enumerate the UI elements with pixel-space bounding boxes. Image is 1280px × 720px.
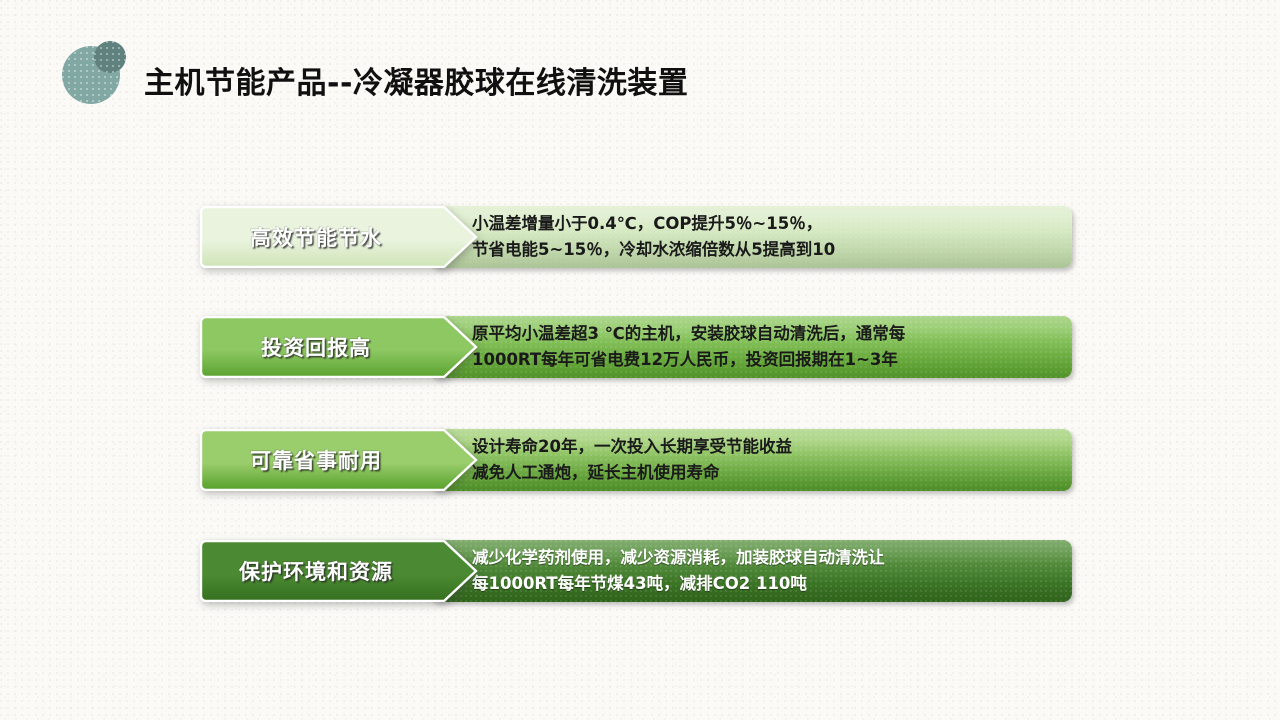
feature-description-line: 小温差增量小于0.4℃，COP提升5％~15％，	[472, 211, 1062, 237]
feature-description-line: 减少化学药剂使用，减少资源消耗，加装胶球自动清洗让	[472, 545, 1062, 571]
feature-description: 设计寿命20年，一次投入长期享受节能收益减免人工通炮，延长主机使用寿命	[472, 429, 1062, 491]
feature-row: 保护环境和资源减少化学药剂使用，减少资源消耗，加装胶球自动清洗让每1000RT每…	[200, 540, 1072, 602]
feature-description-line: 节省电能5~15％，冷却水浓缩倍数从5提高到10	[472, 237, 1062, 263]
feature-description-line: 设计寿命20年，一次投入长期享受节能收益	[472, 434, 1062, 460]
feature-description-line: 1000RT每年可省电费12万人民币，投资回报期在1~3年	[472, 347, 1062, 373]
feature-row: 高效节能节水小温差增量小于0.4℃，COP提升5％~15％，节省电能5~15％，…	[200, 206, 1072, 268]
feature-label-chevron[interactable]	[200, 540, 478, 602]
feature-label-chevron[interactable]	[200, 429, 478, 491]
feature-row: 投资回报高原平均小温差超3 ℃的主机，安装胶球自动清洗后，通常每1000RT每年…	[200, 316, 1072, 378]
feature-row: 可靠省事耐用设计寿命20年，一次投入长期享受节能收益减免人工通炮，延长主机使用寿…	[200, 429, 1072, 491]
feature-label-chevron[interactable]	[200, 206, 478, 268]
feature-description-line: 每1000RT每年节煤43吨，减排CO2 110吨	[472, 571, 1062, 597]
feature-description: 原平均小温差超3 ℃的主机，安装胶球自动清洗后，通常每1000RT每年可省电费1…	[472, 316, 1062, 378]
feature-label-chevron[interactable]	[200, 316, 478, 378]
feature-description-line: 原平均小温差超3 ℃的主机，安装胶球自动清洗后，通常每	[472, 321, 1062, 347]
feature-description-line: 减免人工通炮，延长主机使用寿命	[472, 460, 1062, 486]
feature-rows: 高效节能节水小温差增量小于0.4℃，COP提升5％~15％，节省电能5~15％，…	[0, 0, 1280, 720]
feature-description: 小温差增量小于0.4℃，COP提升5％~15％，节省电能5~15％，冷却水浓缩倍…	[472, 206, 1062, 268]
feature-description: 减少化学药剂使用，减少资源消耗，加装胶球自动清洗让每1000RT每年节煤43吨，…	[472, 540, 1062, 602]
